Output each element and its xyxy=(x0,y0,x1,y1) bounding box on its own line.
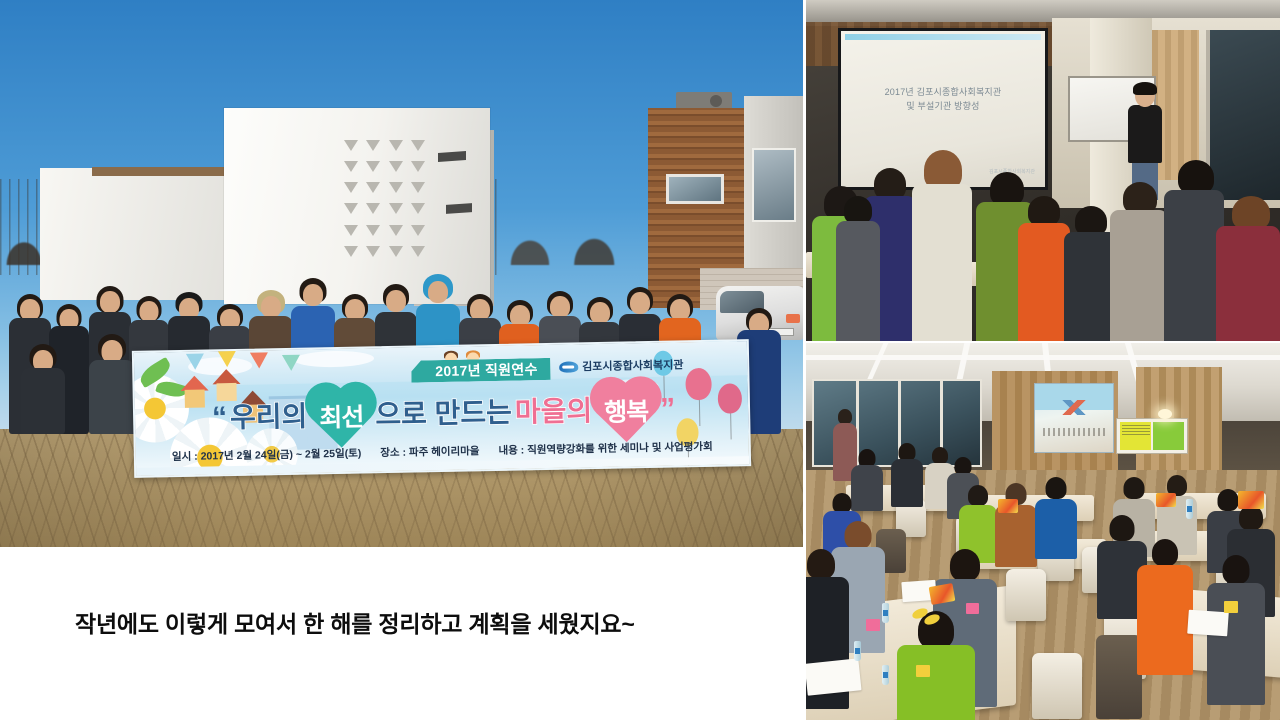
slide-text: 2017년 김포시종합사회복지관 및 부설기관 방향성 xyxy=(841,86,1045,114)
headline-part3: 마을의 xyxy=(515,397,593,426)
attendee xyxy=(1216,196,1280,341)
attendee xyxy=(890,443,924,507)
slide-line-2: 및 부설기관 방향성 xyxy=(849,100,1037,114)
water-bottle xyxy=(882,603,889,623)
bunting-flag xyxy=(282,355,300,371)
person xyxy=(20,338,66,434)
heart-pink-text: 행복 xyxy=(596,383,657,438)
slide-line-1: 2017년 김포시종합사회복지관 xyxy=(849,86,1037,100)
banner-detail-date: 일시 : 2017년 2월 24일(금) ~ 2월 25일(토) xyxy=(172,446,362,465)
person xyxy=(88,330,136,434)
heart-teal-text: 최선 xyxy=(311,388,372,443)
attendee xyxy=(836,196,880,341)
handout-paper xyxy=(1187,610,1229,637)
organization-name: 김포시종합사회복지관 xyxy=(582,356,683,374)
lecture-photo: 2017년 김포시종합사회복지관 및 부설기관 방향성 김포시종합사회복지관 xyxy=(806,0,1280,341)
chair xyxy=(1006,569,1046,621)
building-window xyxy=(666,174,724,204)
seminar-room-photo xyxy=(806,343,1280,720)
presenter-hair xyxy=(1133,82,1157,95)
attendee xyxy=(1018,196,1070,341)
attendee xyxy=(896,611,976,720)
ceiling-lamp-icon xyxy=(1158,409,1172,419)
attendee xyxy=(994,483,1038,567)
ribbon-label: 2017년 직원연수 xyxy=(435,359,538,381)
bunting-flag xyxy=(250,352,268,368)
sticky-note xyxy=(1224,601,1238,613)
sticky-note xyxy=(916,665,930,677)
pink-heart: 행복 xyxy=(596,383,657,438)
caption-bar: 작년에도 이렇게 모여서 한 해를 정리하고 계획을 세웠지요~ xyxy=(0,547,803,720)
event-banner: 2017년 직원연수 김포시종합사회복지관 “ 우리의 최선 으로 만드는 마을… xyxy=(132,339,751,478)
chart-paper-board xyxy=(1116,418,1188,454)
sticky-note xyxy=(866,619,880,631)
snack-bag xyxy=(998,499,1018,513)
slide-text-lines xyxy=(1043,428,1105,436)
snack-bag xyxy=(1156,493,1176,507)
headline-part2: 으로 만드는 xyxy=(375,399,512,430)
close-quote: ” xyxy=(660,395,676,425)
slot-window xyxy=(438,151,466,162)
caption-text: 작년에도 이렇게 모여서 한 해를 정리하고 계획을 세웠지요~ xyxy=(75,605,635,639)
teal-heart: 최선 xyxy=(311,388,372,443)
water-bottle xyxy=(882,665,889,685)
bunting-flag xyxy=(218,351,236,367)
banner-detail-place: 장소 : 파주 헤이리마을 xyxy=(380,443,479,460)
slot-window xyxy=(446,203,472,214)
handout-paper xyxy=(806,658,862,695)
snack-bag xyxy=(1238,491,1264,509)
presenter-body xyxy=(1128,105,1162,163)
bunting-flag xyxy=(186,354,204,370)
organization-logo: 김포시종합사회복지관 xyxy=(559,356,683,374)
attendee xyxy=(1034,477,1078,559)
handwriting-marks xyxy=(1122,425,1150,435)
photo-collage-page: 2017년 직원연수 김포시종합사회복지관 “ 우리의 최선 으로 만드는 마을… xyxy=(0,0,1280,720)
green-chart-paper xyxy=(1153,422,1184,450)
attendee xyxy=(1164,160,1224,341)
banner-ribbon: 2017년 직원연수 xyxy=(411,358,551,383)
water-bottle xyxy=(854,641,861,661)
attendee xyxy=(1110,182,1168,341)
group-photo-outdoors: 2017년 직원연수 김포시종합사회복지관 “ 우리의 최선 으로 만드는 마을… xyxy=(0,0,803,547)
building-window xyxy=(752,148,796,222)
logo-mark-icon xyxy=(559,361,578,372)
banner-headline: “ 우리의 최선 으로 만드는 마을의 행복 ” xyxy=(151,383,737,444)
water-bottle xyxy=(1186,499,1193,519)
sticky-note xyxy=(966,603,979,614)
attendee xyxy=(1136,539,1194,675)
projector-screen xyxy=(1034,383,1114,453)
slide-top-bar xyxy=(845,34,1041,40)
chair xyxy=(1032,653,1082,719)
slide-village-graphic xyxy=(1039,400,1109,415)
headline-part1: 우리의 xyxy=(230,403,308,432)
attendee xyxy=(912,150,972,341)
open-quote: “ xyxy=(212,403,228,433)
banner-detail-content: 내용 : 직원역량강화를 위한 세미나 및 사업평가회 xyxy=(498,439,712,458)
wood-eave xyxy=(92,167,230,176)
